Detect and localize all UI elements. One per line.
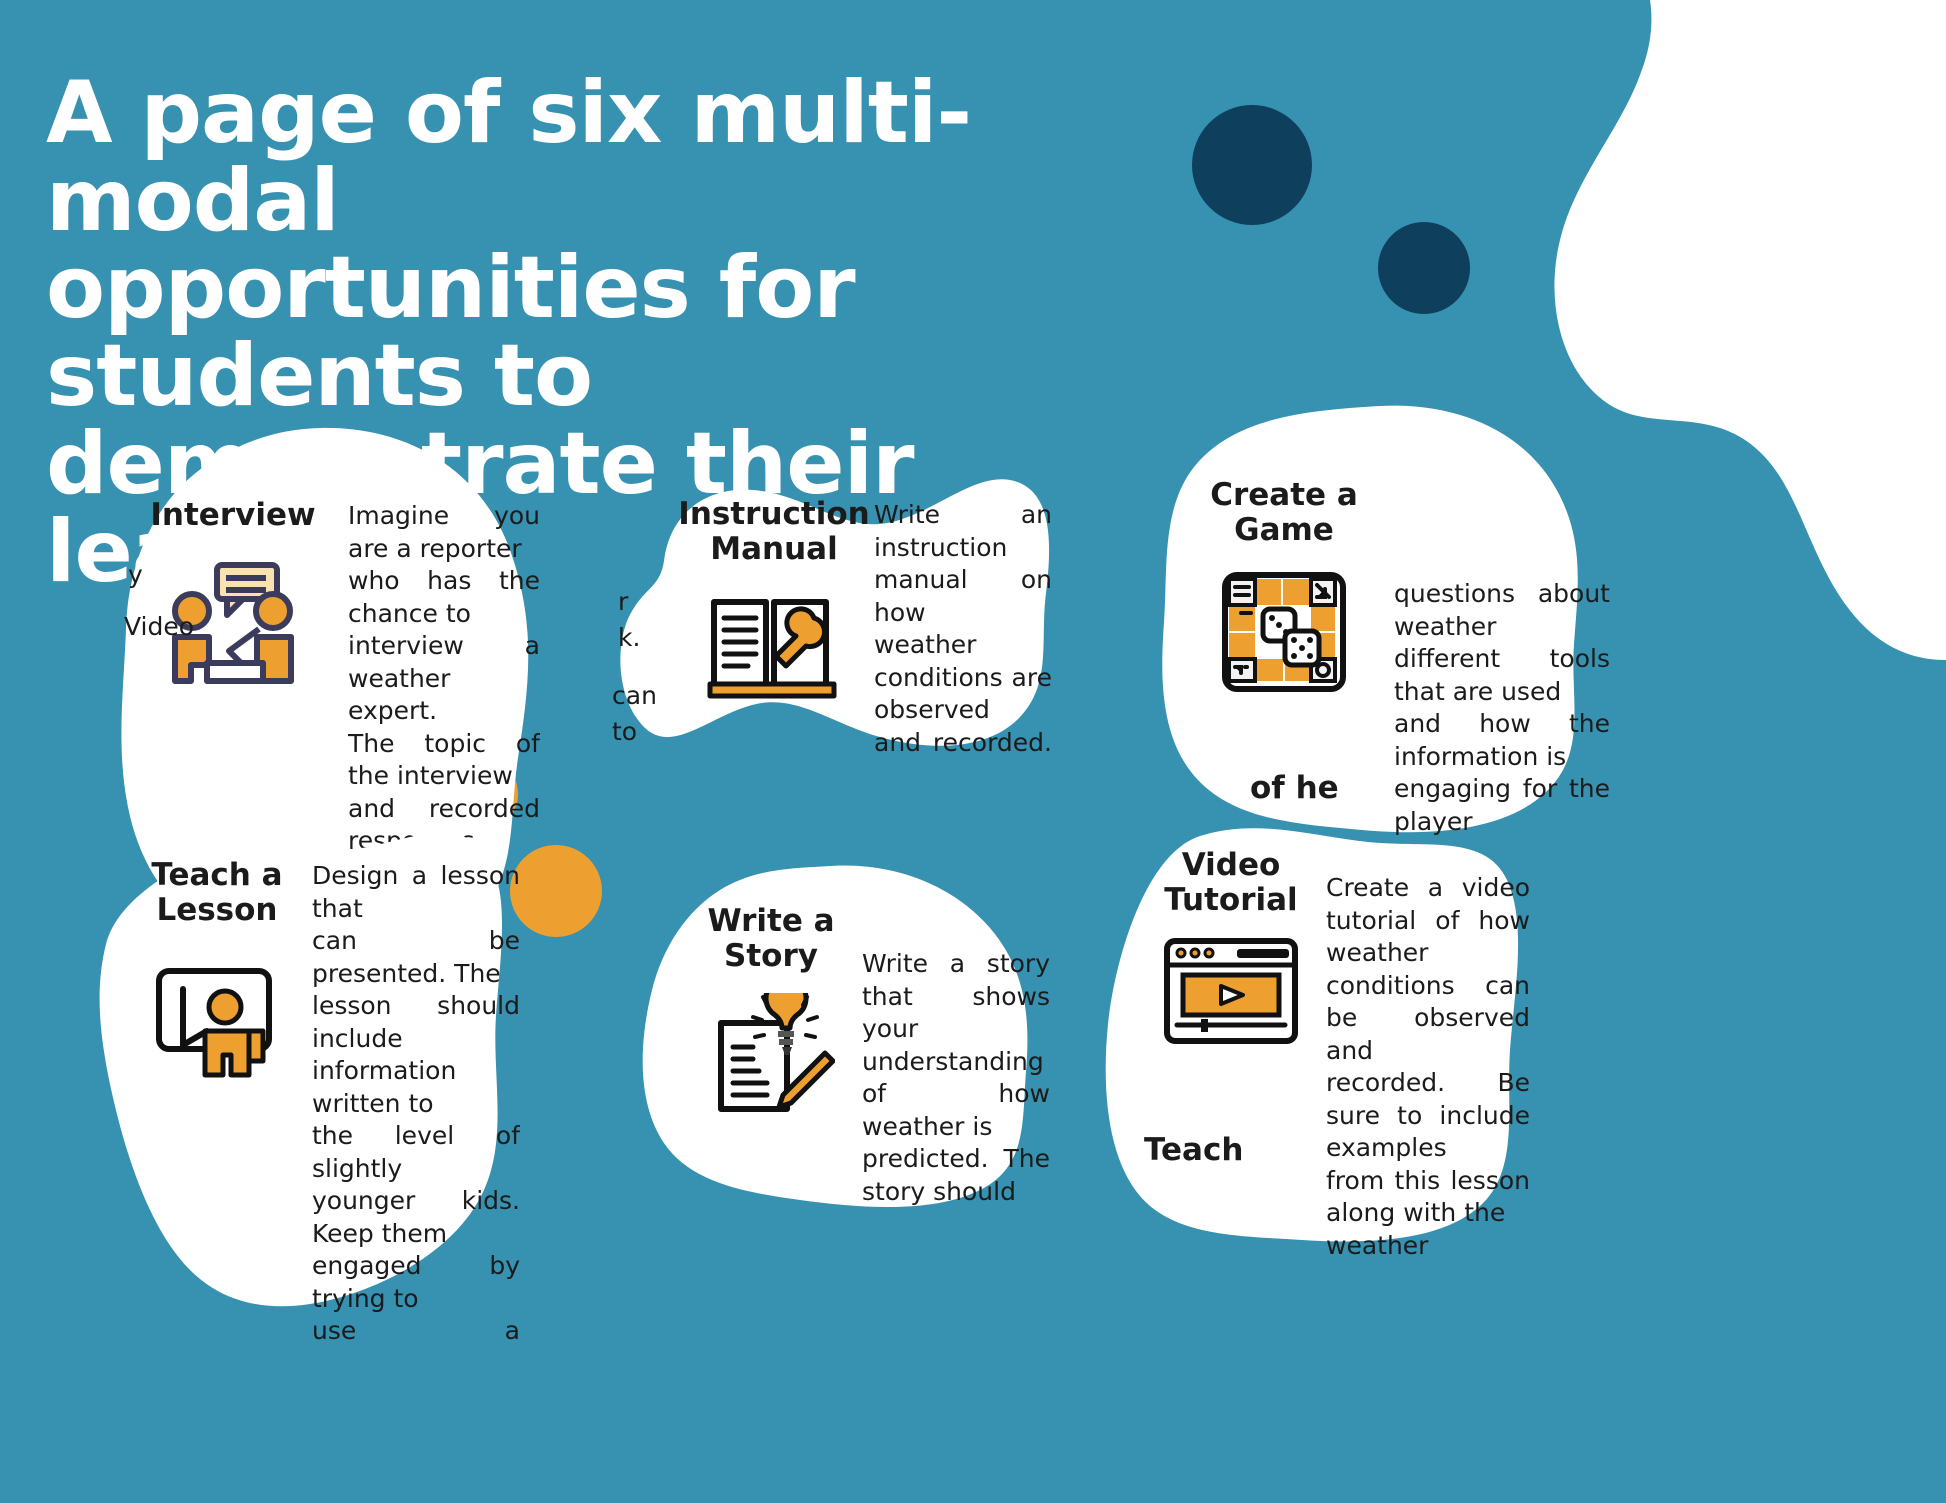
- overflow-text-video: Video: [124, 612, 194, 641]
- card-title: Write a Story: [707, 904, 834, 973]
- card-video-tutorial[interactable]: Video Tutorial Create a video tutorial o…: [1080, 822, 1530, 1262]
- card-title: Interview: [150, 498, 315, 533]
- card-body: questions about weather different tools …: [1394, 478, 1610, 838]
- overflow-text-to: to: [612, 717, 637, 746]
- card-teach-a-lesson[interactable]: Teach a Lesson Design a lesson that can …: [80, 820, 520, 1340]
- teacher-board-icon: [153, 965, 281, 1083]
- card-body: Imagine you are a reporter who has the c…: [348, 498, 540, 858]
- overflow-text-r: r: [618, 587, 628, 616]
- card-title: Create a Game: [1210, 478, 1358, 547]
- overflow-text-k: k.: [618, 623, 640, 652]
- manual-book-icon: [706, 584, 842, 702]
- card-body: Write a story that shows your understand…: [862, 904, 1050, 1210]
- card-write-a-story[interactable]: Write a Story: [630, 860, 1050, 1210]
- overflow-text-y: y: [128, 560, 143, 589]
- card-create-a-game[interactable]: Create a Game: [1140, 400, 1610, 840]
- card-body: Design a lesson that can be presented. T…: [312, 858, 520, 1340]
- card-body: Create a video tutorial of how weather c…: [1326, 848, 1530, 1262]
- card-title: Video Tutorial: [1164, 848, 1297, 917]
- board-game-icon: [1219, 569, 1349, 695]
- card-title: Teach a Lesson: [151, 858, 282, 927]
- overflow-text-can: can: [612, 681, 657, 710]
- poster-canvas: A page of six multi-modal opportunities …: [0, 0, 1946, 1503]
- white-blob-top-right: [1554, 0, 1946, 660]
- story-idea-icon: [707, 993, 835, 1117]
- card-body: Write an instruction manual on how weath…: [874, 497, 1052, 765]
- card-instruction-manual[interactable]: Instruction Manual Write an instruction …: [612, 465, 1052, 765]
- overflow-text-of-he: of he: [1250, 770, 1339, 806]
- navy-circle-small: [1378, 222, 1470, 314]
- overflow-text-teach: Teach: [1144, 1132, 1243, 1168]
- card-title: Instruction Manual: [678, 497, 869, 566]
- video-player-icon: [1163, 937, 1299, 1045]
